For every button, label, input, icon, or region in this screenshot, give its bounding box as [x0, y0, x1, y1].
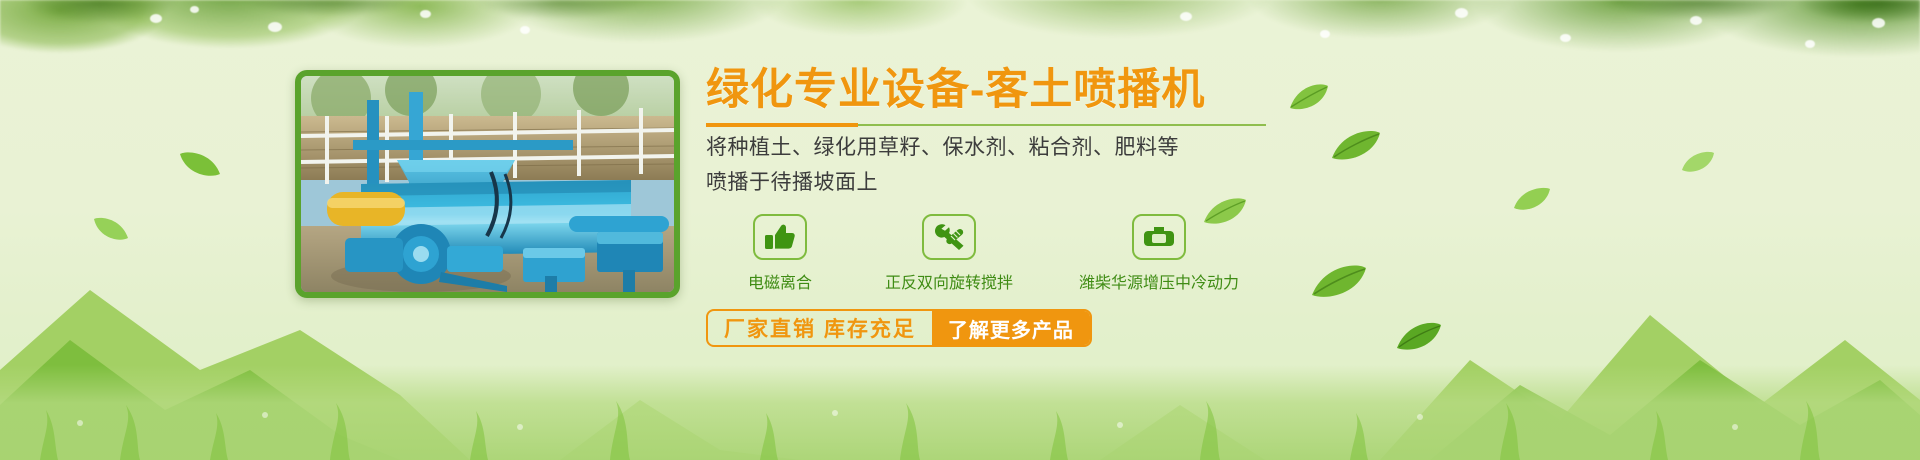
subtitle-line-1: 将种植土、绿化用草籽、保水剂、粘合剂、肥料等: [706, 134, 1286, 162]
floating-leaf-icon: [1310, 262, 1368, 305]
blossom-decoration: [1320, 30, 1330, 38]
floating-leaf-icon: [178, 150, 222, 183]
feature-label: 潍柴华源增压中冷动力: [1044, 269, 1274, 293]
wrench-screwdriver-icon: [922, 214, 976, 260]
feature-item-weichai-engine: 潍柴华源增压中冷动力: [1044, 214, 1274, 293]
divider-segment-green: [858, 124, 1266, 126]
subtitle-line-2: 喷播于待播坡面上: [706, 169, 1286, 197]
feature-label: 正反双向旋转搅拌: [854, 269, 1044, 293]
feature-item-bidirectional-mixing: 正反双向旋转搅拌: [854, 214, 1044, 293]
divider-segment-orange: [706, 123, 858, 127]
blossom-decoration: [1455, 8, 1468, 18]
blossom-decoration: [268, 22, 282, 32]
blossom-decoration: [520, 26, 530, 34]
floating-leaf-icon: [1288, 82, 1330, 117]
product-photo: [295, 70, 680, 298]
floating-leaf-icon: [1512, 186, 1552, 217]
cta-slogan: 厂家直销 库存充足: [708, 311, 932, 345]
grass-strip-decoration: [0, 365, 1920, 460]
floating-leaf-icon: [1680, 150, 1716, 179]
page-title: 绿化专业设备-客土喷播机: [706, 68, 1286, 114]
blossom-decoration: [420, 10, 431, 18]
blossom-decoration: [1805, 40, 1815, 48]
banner-content: 绿化专业设备-客土喷播机 将种植土、绿化用草籽、保水剂、粘合剂、肥料等 喷播于待…: [706, 68, 1286, 347]
tree-canopy-shadow-decoration: [0, 0, 1920, 70]
cta-bar: 厂家直销 库存充足 了解更多产品: [706, 309, 1092, 347]
blossom-decoration: [1690, 16, 1702, 25]
blossom-decoration: [1180, 12, 1192, 21]
blossom-decoration: [1560, 34, 1571, 42]
feature-list: 电磁离合 正反双向旋转搅拌: [706, 214, 1286, 293]
thumbs-up-icon: [753, 214, 807, 260]
blossom-decoration: [190, 6, 199, 13]
promo-banner: 绿化专业设备-客土喷播机 将种植土、绿化用草籽、保水剂、粘合剂、肥料等 喷播于待…: [0, 0, 1920, 460]
blossom-decoration: [1872, 18, 1885, 28]
title-divider: [706, 123, 1266, 127]
floating-leaf-icon: [92, 216, 130, 247]
feature-item-electromagnetic-clutch: 电磁离合: [706, 214, 854, 293]
blossom-decoration: [150, 14, 162, 23]
feature-label: 电磁离合: [706, 269, 854, 293]
product-photo-image: [301, 76, 674, 292]
floating-leaf-icon: [1330, 128, 1382, 167]
engine-icon: [1132, 214, 1186, 260]
floating-leaf-icon: [1395, 320, 1443, 357]
learn-more-button[interactable]: 了解更多产品: [932, 311, 1090, 345]
